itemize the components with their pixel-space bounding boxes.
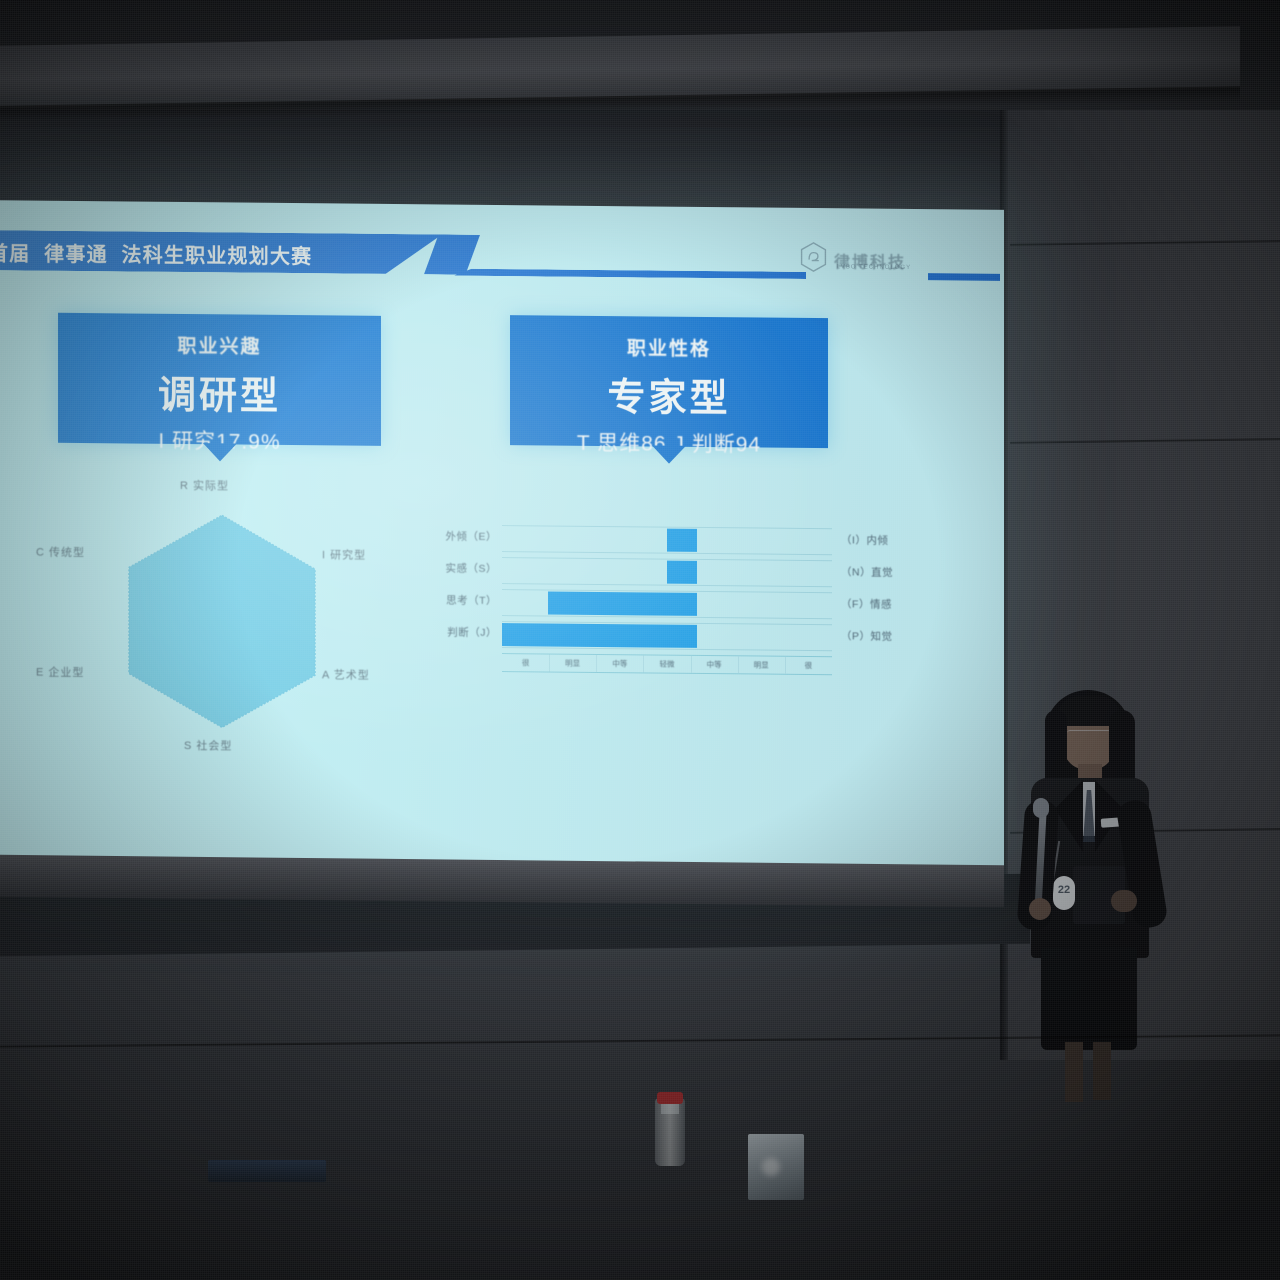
presenter-hand-left (1029, 898, 1051, 920)
slide-surface: 首届 律事通 法科生职业规划大赛 律博科技 LVBO TECHNOLOGY (0, 200, 1004, 870)
mbti-bar-fill (548, 591, 697, 615)
mbti-right-label-i: （I）内倾 (841, 532, 927, 548)
callout-main-label: 专家型 (510, 359, 828, 423)
mbti-tick-label: 轻微 (643, 658, 690, 669)
mbti-right-label-p: （P）知觉 (841, 628, 927, 644)
mbti-bar-fill (502, 623, 697, 648)
mbti-left-label-t: 思考（T） (417, 592, 497, 608)
mbti-tick-label: 很 (502, 657, 549, 668)
mbti-tick-label: 中等 (596, 658, 643, 669)
holland-hexagon-chart: R 实际型 I 研究型 A 艺术型 S 社会型 E 企业型 C 传统型 (12, 465, 432, 769)
callout-tail (652, 445, 686, 463)
slide-title: 首届 律事通 法科生职业规划大赛 (0, 237, 458, 271)
title-suffix: 法科生职业规划大赛 (122, 244, 313, 268)
callout-sub-label: 职业兴趣 (58, 313, 381, 360)
projection-screen: 首届 律事通 法科生职业规划大赛 律博科技 LVBO TECHNOLOGY (0, 200, 1004, 870)
callout-main-label: 调研型 (58, 357, 381, 421)
mbti-left-label-s: 实感（S） (417, 560, 497, 576)
mbti-left-label-j: 判断（J） (417, 624, 497, 640)
radar-label-realistic: R 实际型 (180, 477, 229, 493)
mbti-row-t-f (502, 589, 832, 619)
presenter-hand-right (1111, 890, 1137, 912)
radar-label-artistic: A 艺术型 (322, 666, 370, 682)
mbti-tick-label: 中等 (691, 659, 738, 670)
mbti-right-label-n: （N）直觉 (841, 564, 927, 580)
company-logo: 律博科技 (800, 242, 906, 278)
mbti-bar-chart: 外倾（E） （I）内倾 实感（S） （N）直觉 思考（T） （F）情感 判断（J… (417, 524, 917, 689)
mbti-row-j-p (502, 621, 832, 651)
mbti-tick-label: 很 (785, 660, 832, 671)
presenter-leg-left (1065, 1042, 1083, 1102)
slide-header: 首届 律事通 法科生职业规划大赛 律博科技 LVBO TECHNOLOGY (0, 222, 1004, 286)
microphone-head (1033, 798, 1049, 818)
mbti-tick-label: 明显 (549, 657, 596, 668)
mbti-row-s-n (502, 557, 832, 587)
mbti-left-label-e: 外倾（E） (417, 528, 497, 544)
presenter-leg-right (1093, 1042, 1111, 1100)
mbti-bar-fill (667, 529, 697, 552)
radar-label-enterprising: E 企业型 (36, 664, 84, 680)
header-rule (454, 269, 806, 279)
title-brand: 律事通 (40, 238, 112, 268)
radar-label-social: S 社会型 (184, 737, 232, 753)
mbti-right-label-f: （F）情感 (841, 596, 927, 612)
callout-career-personality: 职业性格 专家型 T 思维86 J 判断94 (510, 315, 828, 448)
lecture-hall-photo: 首届 律事通 法科生职业规划大赛 律博科技 LVBO TECHNOLOGY (0, 0, 1280, 1280)
presenter-skirt (1041, 948, 1137, 1050)
mbti-bar-fill (667, 561, 697, 584)
paper-glint (762, 1158, 780, 1176)
title-prefix: 首届 (0, 243, 30, 265)
callout-tail (203, 443, 237, 461)
mbti-axis-scale: 很 明显 中等 轻微 中等 明显 很 (502, 653, 832, 675)
book-on-desk (208, 1160, 326, 1182)
presenter-badge-number: 22 (1053, 884, 1075, 896)
header-rule-right (928, 273, 1000, 281)
mbti-tick-label: 明显 (738, 659, 785, 670)
glasses-icon (1067, 730, 1111, 740)
hexagon-logo-icon (800, 242, 827, 277)
radar-label-investigative: I 研究型 (322, 546, 366, 562)
mbti-row-e-i (502, 525, 832, 555)
presenter: 22 (1015, 690, 1165, 1090)
callout-sub-label: 职业性格 (510, 315, 828, 362)
company-logo-subtext: LVBO TECHNOLOGY (837, 264, 911, 271)
water-bottle-cap (657, 1092, 683, 1104)
radar-label-conventional: C 传统型 (36, 544, 85, 560)
hexagon-shape (12, 465, 432, 769)
callout-career-interest: 职业兴趣 调研型 I 研究17.9% (58, 313, 381, 446)
